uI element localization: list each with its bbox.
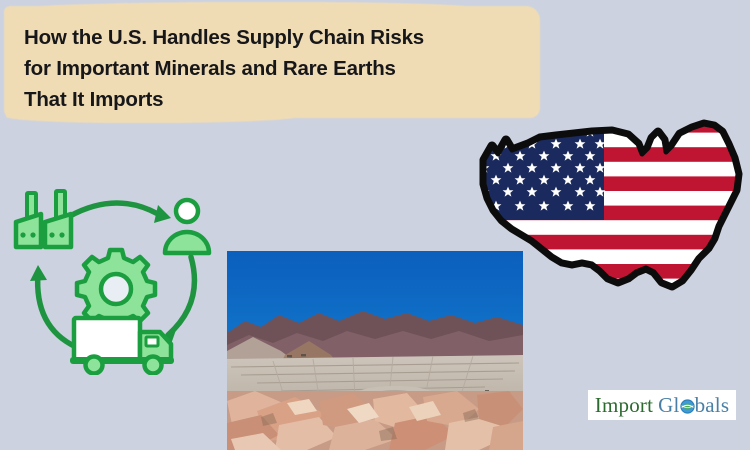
factory-icon: [16, 191, 71, 247]
logo-text: Import Gl bals: [595, 393, 729, 418]
supply-chain-cycle-icon: [8, 185, 223, 375]
us-flag-map-graphic: [452, 118, 744, 308]
globe-icon: [680, 395, 695, 410]
logo-word-bals: bals: [695, 393, 730, 418]
truck-icon: [70, 318, 174, 374]
person-icon: [165, 200, 209, 253]
arrowhead-right: [154, 205, 171, 223]
page-title: How the U.S. Handles Supply Chain Risks …: [24, 22, 544, 115]
logo-word-gl: Gl: [658, 393, 679, 418]
arrowhead-up: [30, 265, 47, 281]
import-globals-logo[interactable]: Import Gl bals: [588, 390, 736, 420]
logo-word-import: Import: [595, 393, 653, 418]
poster-canvas: How the U.S. Handles Supply Chain Risks …: [0, 0, 750, 450]
